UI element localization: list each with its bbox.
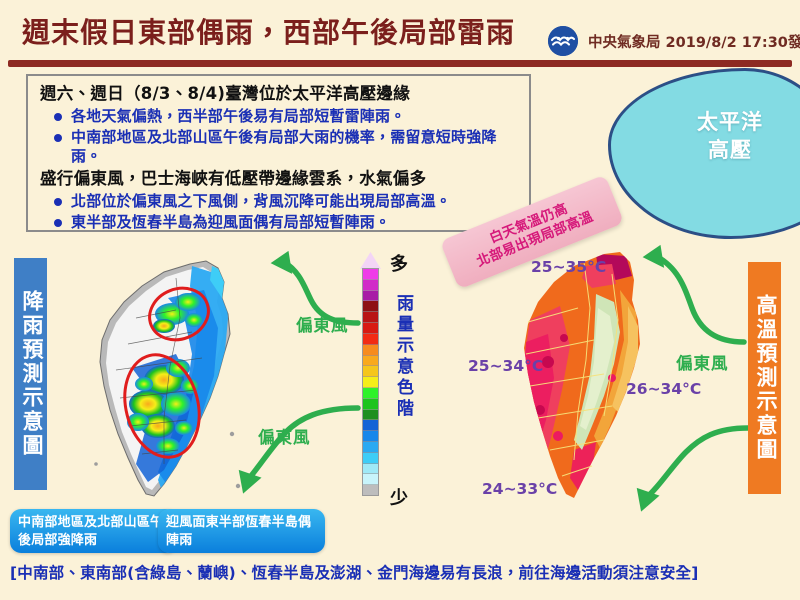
scale-band bbox=[363, 399, 378, 410]
pacific-high-label-line1: 太平洋 bbox=[660, 108, 800, 136]
callout-heavy-rain: 中南部地區及北部山區午後局部強降雨 bbox=[10, 509, 177, 553]
bullet-dot-icon bbox=[54, 134, 62, 142]
summary-bullet-text: 各地天氣偏熱，西半部午後易有局部短暫雷陣雨。 bbox=[71, 107, 519, 127]
summary-bullet: 北部位於偏東風之下風側，背風沉降可能出現局部高溫。 bbox=[40, 192, 519, 212]
scale-band bbox=[363, 431, 378, 442]
pacific-high-label: 太平洋 高壓 bbox=[660, 108, 800, 165]
scale-band bbox=[363, 280, 378, 291]
scale-cap-icon bbox=[360, 252, 381, 269]
wind-label-1: 偏東風 bbox=[296, 312, 349, 336]
scale-band bbox=[363, 442, 378, 453]
summary-bullet-text: 北部位於偏東風之下風側，背風沉降可能出現局部高溫。 bbox=[71, 192, 519, 212]
summary-bullet: 東半部及恆春半島為迎風面偶有局部短暫陣雨。 bbox=[40, 213, 519, 233]
scale-band bbox=[363, 474, 378, 485]
summary-bullet: 中南部地區及北部山區午後有局部大雨的機率，需留意短時強降雨。 bbox=[40, 128, 519, 167]
scale-band bbox=[363, 410, 378, 421]
scale-band bbox=[363, 453, 378, 464]
wind-label-2: 偏東風 bbox=[258, 424, 311, 448]
scale-band bbox=[363, 356, 378, 367]
high-temperature-forecast-map bbox=[500, 250, 685, 508]
bullet-dot-icon bbox=[54, 219, 62, 227]
callout-windward-showers: 迎風面東半部恆春半島偶陣雨 bbox=[158, 509, 325, 553]
scale-band bbox=[363, 301, 378, 312]
scale-band bbox=[363, 291, 378, 302]
scale-band bbox=[363, 334, 378, 345]
scale-band bbox=[363, 420, 378, 431]
bullet-dot-icon bbox=[54, 198, 62, 206]
scale-label-more: 多 bbox=[390, 250, 408, 276]
summary-heading: 週六、週日（8/3、8/4)臺灣位於太平洋高壓邊緣 bbox=[40, 83, 519, 105]
wind-label-3: 偏東風 bbox=[676, 350, 729, 374]
summary-box: 週六、週日（8/3、8/4)臺灣位於太平洋高壓邊緣 各地天氣偏熱，西半部午後易有… bbox=[26, 74, 531, 232]
agency-timestamp: 中央氣象局 2019/8/2 17:30發布 bbox=[588, 31, 800, 52]
temp-label-north: 25~35°C bbox=[531, 258, 606, 276]
heat-forecast-panel-label: 高溫預測示意圖 bbox=[748, 262, 781, 494]
summary-bullet-text: 東半部及恆春半島為迎風面偶有局部短暫陣雨。 bbox=[71, 213, 519, 233]
pacific-high-label-line2: 高壓 bbox=[660, 136, 800, 164]
scale-label-less: 少 bbox=[390, 484, 408, 510]
rain-forecast-panel-label: 降雨預測示意圖 bbox=[14, 258, 47, 490]
scale-band bbox=[363, 345, 378, 356]
bottom-caption: [中南部、東南部(含綠島、蘭嶼)、恆春半島及澎湖、金門海邊易有長浪，前往海邊活動… bbox=[10, 561, 794, 583]
bullet-dot-icon bbox=[54, 113, 62, 121]
scale-band bbox=[363, 485, 378, 495]
temp-label-east: 26~34°C bbox=[626, 380, 701, 398]
summary-subheading: 盛行偏東風，巴士海峽有低壓帶邊緣雲系，水氣偏多 bbox=[40, 168, 519, 190]
scale-band bbox=[363, 269, 378, 280]
temp-label-south: 24~33°C bbox=[482, 480, 557, 498]
scale-band bbox=[363, 366, 378, 377]
scale-title: 雨量示意色階 bbox=[390, 294, 416, 420]
temp-label-west: 25~34°C bbox=[468, 357, 543, 375]
summary-bullet-text: 中南部地區及北部山區午後有局部大雨的機率，需留意短時強降雨。 bbox=[71, 128, 519, 167]
header-divider bbox=[8, 60, 792, 67]
cwb-wave-logo-icon bbox=[548, 26, 578, 56]
scale-band bbox=[363, 377, 378, 388]
scale-band bbox=[363, 323, 378, 334]
scale-band bbox=[363, 388, 378, 399]
scale-gradient-bar bbox=[362, 268, 379, 496]
rainfall-forecast-map bbox=[72, 258, 287, 506]
summary-bullet: 各地天氣偏熱，西半部午後易有局部短暫雷陣雨。 bbox=[40, 107, 519, 127]
scale-band bbox=[363, 464, 378, 475]
infographic-canvas: 太平洋 高壓 週末假日東部偶雨，西部午後局部雷雨 中央氣象局 2019/8/2 … bbox=[0, 0, 800, 600]
rain-color-scale: 多 少 雨量示意色階 bbox=[360, 252, 446, 514]
scale-band bbox=[363, 312, 378, 323]
page-title: 週末假日東部偶雨，西部午後局部雷雨 bbox=[22, 11, 515, 51]
header: 週末假日東部偶雨，西部午後局部雷雨 中央氣象局 2019/8/2 17:30發布 bbox=[0, 0, 800, 62]
